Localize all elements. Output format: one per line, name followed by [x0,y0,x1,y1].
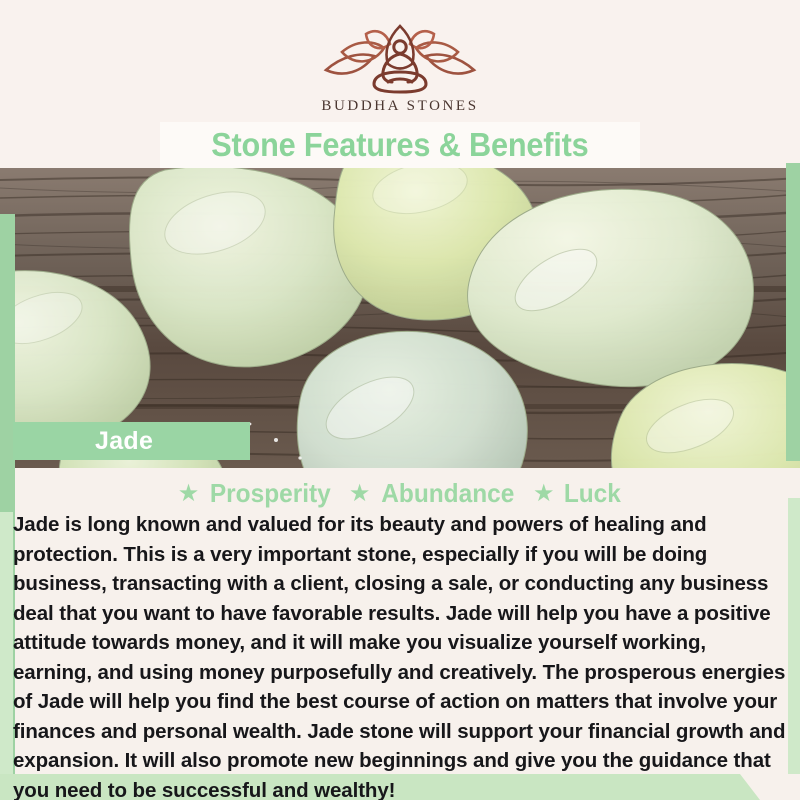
lotus-meditation-icon [316,22,484,94]
star-icon: ★ [178,482,200,506]
benefit-item: ★ Abundance [349,478,519,509]
benefit-label: Abundance [382,478,515,509]
star-icon: ★ [349,482,371,506]
stone-description: Jade is long known and valued for its be… [13,510,787,800]
star-icon: ★ [533,482,555,506]
page-title-band: Stone Features & Benefits [160,122,640,168]
benefit-item: ★ Prosperity [178,478,335,509]
left-green-bar-lower [0,512,13,774]
page-title: Stone Features & Benefits [211,126,588,164]
benefit-label: Luck [563,478,620,509]
brand-logo: BUDDHA STONES [0,22,800,115]
stone-description-text: Jade is long known and valued for its be… [13,510,787,800]
benefits-row: ★ Prosperity ★ Abundance ★ Luck [0,478,800,509]
right-green-bar-lower [788,498,800,774]
stone-name-label: Jade [95,427,153,456]
benefit-item: ★ Luck [533,478,622,509]
brand-name-text: BUDDHA STONES [0,98,800,115]
stone-name-banner: Jade [13,422,250,460]
benefit-label: Prosperity [210,478,331,509]
infographic-poster: BUDDHA STONES Stone Features & Benefits … [0,0,800,800]
right-green-bar [786,163,800,461]
